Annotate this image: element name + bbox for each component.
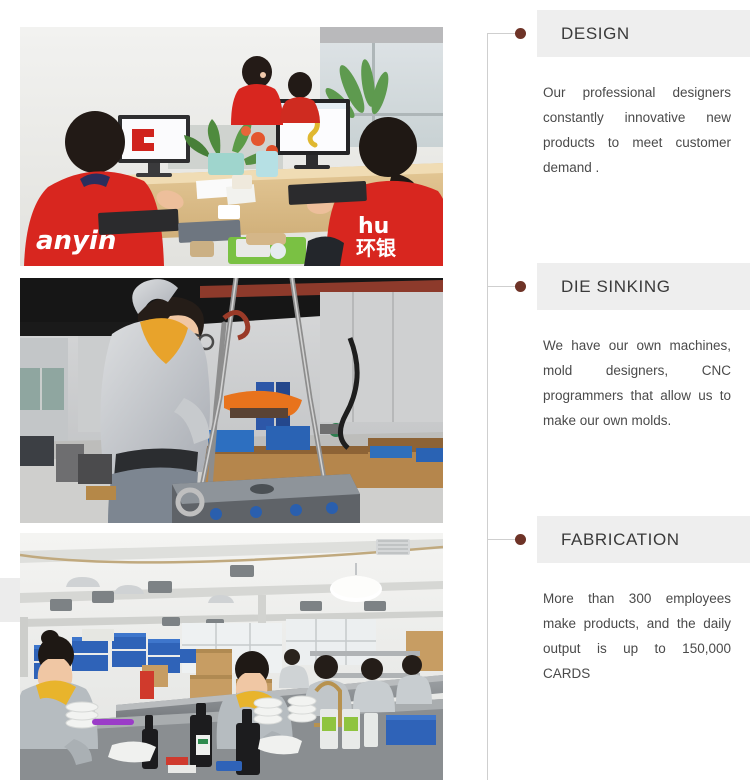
timeline-dot-icon [515,534,526,545]
timeline-header-bar: FABRICATION [537,516,750,563]
timeline-vertical-line [487,33,488,780]
timeline-column: DESIGN Our professional designers consta… [470,0,750,780]
timeline-body-text: We have our own machines, mold designers… [537,333,731,433]
timeline-header-bar: DIE SINKING [537,263,750,310]
die-sinking-workshop-photo [20,278,443,523]
timeline-title: FABRICATION [537,530,680,550]
timeline-title: DESIGN [537,24,630,44]
fabrication-factory-photo [20,533,443,780]
svg-text:环银: 环银 [356,236,397,260]
die-sinking-illustration [20,278,443,523]
timeline-body-text: More than 300 employees make products, a… [537,586,731,686]
timeline-title: DIE SINKING [537,277,671,297]
photo-column: anyin hu 环银 [20,0,443,780]
fabrication-illustration [20,533,443,780]
left-accent-block [0,578,22,622]
timeline-dot-icon [515,281,526,292]
design-office-photo: anyin hu 环银 [20,27,443,266]
timeline-dot-icon [515,28,526,39]
timeline-body-text: Our professional designers constantly in… [537,80,731,180]
timeline-header-bar: DESIGN [537,10,750,57]
design-office-illustration: anyin hu 环银 [20,27,443,266]
